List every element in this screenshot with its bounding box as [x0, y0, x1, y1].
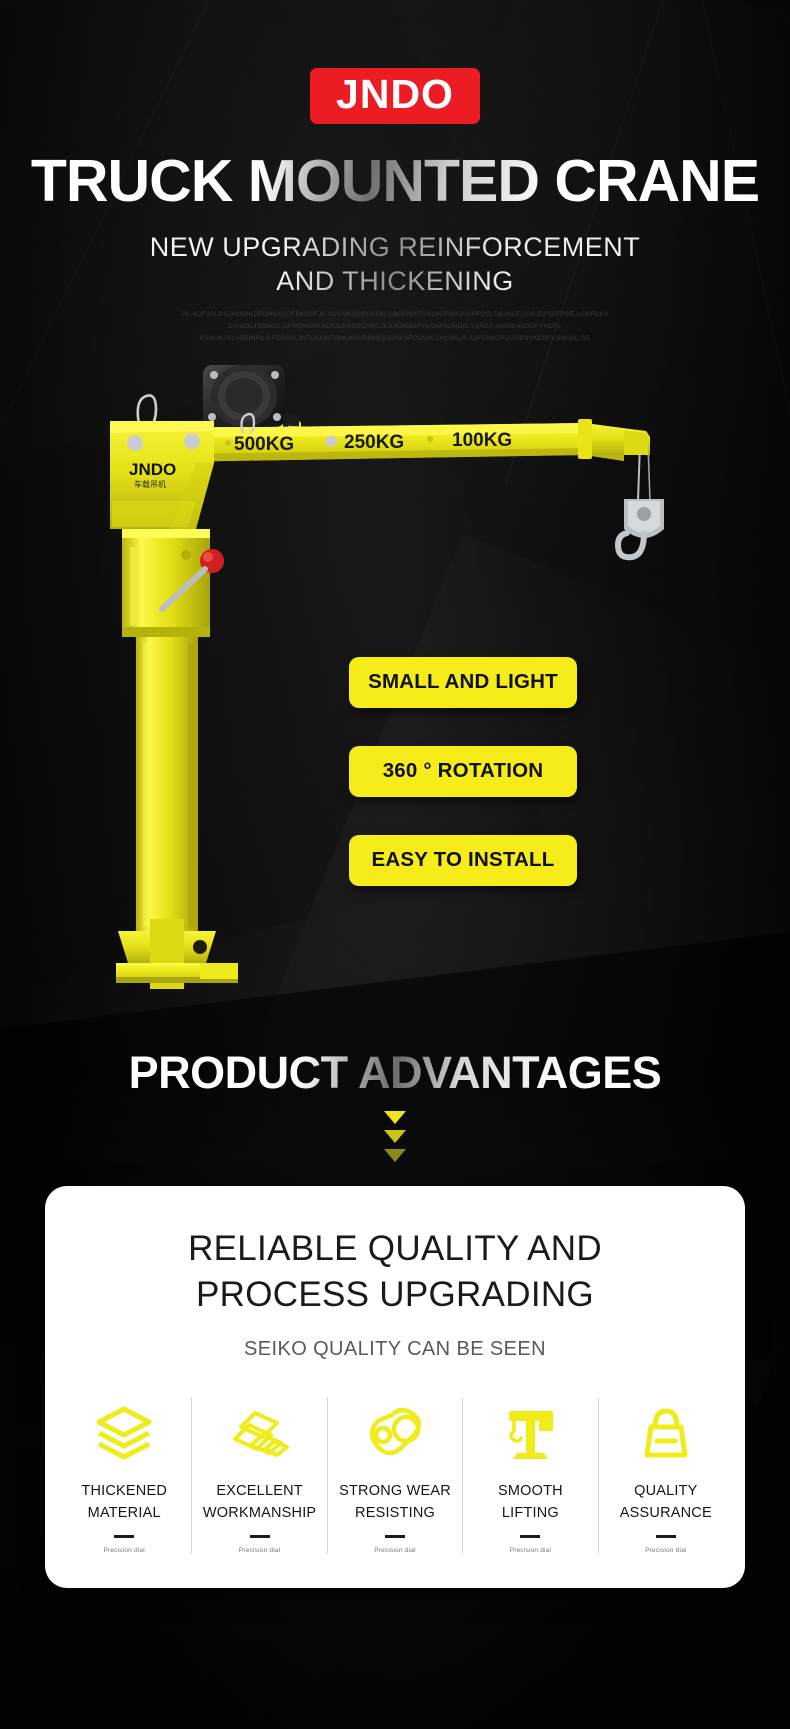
hero-subtitle: NEW UPGRADING REINFORCEMENT AND THICKENI… — [0, 231, 790, 299]
pill-360-rotation[interactable]: 360 ° ROTATION — [349, 746, 577, 797]
capacity-label-500kg: 500KG — [234, 434, 294, 455]
divider-dash — [250, 1535, 270, 1538]
jndo-logo: JNDO — [310, 68, 480, 124]
feature-smooth-lifting: SMOOTH LIFTING Precision dial — [463, 1397, 598, 1555]
capacity-label-100kg: 100KG — [452, 430, 512, 451]
base-plate — [116, 919, 238, 989]
chevron-down-icon-1 — [384, 1111, 406, 1124]
feature-label: EXCELLENT WORKMANSHIP — [198, 1481, 320, 1525]
feature-label-line1: SMOOTH — [469, 1481, 591, 1503]
stacked-plates-icon — [63, 1397, 185, 1471]
feature-label-line2: ASSURANCE — [605, 1503, 727, 1525]
decorative-microtext: OL,KDFJGLDSJHGOIKDFGHNKSDFBKSDFJL,SDVNKI… — [0, 309, 790, 345]
hero-subtitle-line1: NEW UPGRADING REINFORCEMENT — [0, 231, 790, 265]
feature-pill-list: SMALL AND LIGHT 360 ° ROTATION EASY TO I… — [349, 657, 577, 924]
feature-label: STRONG WEAR RESISTING — [334, 1481, 456, 1525]
hook-block — [618, 499, 664, 557]
feature-caption: Precision dial — [334, 1547, 456, 1554]
divider-dash — [385, 1535, 405, 1538]
down-arrows-group — [0, 1111, 790, 1162]
feature-thickened-material: THICKENED MATERIAL Precision dial — [57, 1397, 192, 1555]
pulley-wheel-icon — [334, 1397, 456, 1471]
crane-body-logo-sub: 车载吊机 — [134, 479, 166, 489]
card-title: RELIABLE QUALITY AND PROCESS UPGRADING — [45, 1226, 745, 1318]
microtext-line-2: DSIAOLJSDNGA,DFSOHSMKSDFJLKASDOFNCJKVJKH… — [0, 321, 790, 333]
divider-dash — [656, 1535, 676, 1538]
page-title: TRUCK MOUNTED CRANE — [0, 152, 790, 211]
feature-label-line2: MATERIAL — [63, 1503, 185, 1525]
card-title-line2: PROCESS UPGRADING — [45, 1272, 745, 1318]
tower-crane-icon — [469, 1397, 591, 1471]
card-title-line1: RELIABLE QUALITY AND — [45, 1226, 745, 1272]
feature-label: SMOOTH LIFTING — [469, 1481, 591, 1525]
brand-logo-container: JNDO — [0, 0, 790, 124]
padlock-icon — [605, 1397, 727, 1471]
feature-label: QUALITY ASSURANCE — [605, 1481, 727, 1525]
feature-quality-assurance: QUALITY ASSURANCE Precision dial — [599, 1397, 733, 1555]
steel-bars-icon — [198, 1397, 320, 1471]
feature-caption: Precision dial — [469, 1547, 591, 1554]
crane-body-logo: JNDO — [129, 460, 176, 479]
feature-label-line2: RESISTING — [334, 1503, 456, 1525]
divider-dash — [520, 1535, 540, 1538]
section-title-product-advantages: PRODUCT ADVANTAGES — [0, 1047, 790, 1099]
hero-subtitle-line2: AND THICKENING — [0, 265, 790, 299]
feature-caption: Precision dial — [63, 1547, 185, 1554]
microtext-line-3: KVNOKJVCHSDNFUJLFDSGN,JMTOLGMTRNLKSURDHE… — [0, 333, 790, 345]
feature-label-line1: EXCELLENT — [198, 1481, 320, 1503]
feature-label-line1: STRONG WEAR — [334, 1481, 456, 1503]
mast-column — [136, 637, 198, 931]
pill-small-and-light[interactable]: SMALL AND LIGHT — [349, 657, 577, 708]
feature-label-line2: WORKMANSHIP — [198, 1503, 320, 1525]
feature-label: THICKENED MATERIAL — [63, 1481, 185, 1525]
slew-housing — [122, 529, 224, 637]
feature-caption: Precision dial — [198, 1547, 320, 1554]
feature-columns: THICKENED MATERIAL Precision dial — [45, 1397, 745, 1555]
pill-easy-to-install[interactable]: EASY TO INSTALL — [349, 835, 577, 886]
crane-product-image: 500KG 250KG 100KG JN — [0, 351, 790, 1041]
feature-label-line1: THICKENED — [63, 1481, 185, 1503]
feature-strong-wear-resisting: STRONG WEAR RESISTING Precision dial — [328, 1397, 463, 1555]
boom-knee-plate: JNDO 车载吊机 — [110, 421, 214, 529]
feature-label-line1: QUALITY — [605, 1481, 727, 1503]
card-subtitle: SEIKO QUALITY CAN BE SEEN — [45, 1338, 745, 1361]
chevron-down-icon-2 — [384, 1130, 406, 1143]
quality-card: RELIABLE QUALITY AND PROCESS UPGRADING S… — [45, 1186, 745, 1589]
divider-dash — [114, 1535, 134, 1538]
feature-excellent-workmanship: EXCELLENT WORKMANSHIP Precision dial — [192, 1397, 327, 1555]
capacity-label-250kg: 250KG — [344, 432, 404, 453]
feature-label-line2: LIFTING — [469, 1503, 591, 1525]
chevron-down-icon-3 — [384, 1149, 406, 1162]
microtext-line-1: OL,KDFJGLDSJHGOIKDFGHNKSDFBKSDFJL,SDVNKI… — [0, 309, 790, 321]
feature-caption: Precision dial — [605, 1547, 727, 1554]
